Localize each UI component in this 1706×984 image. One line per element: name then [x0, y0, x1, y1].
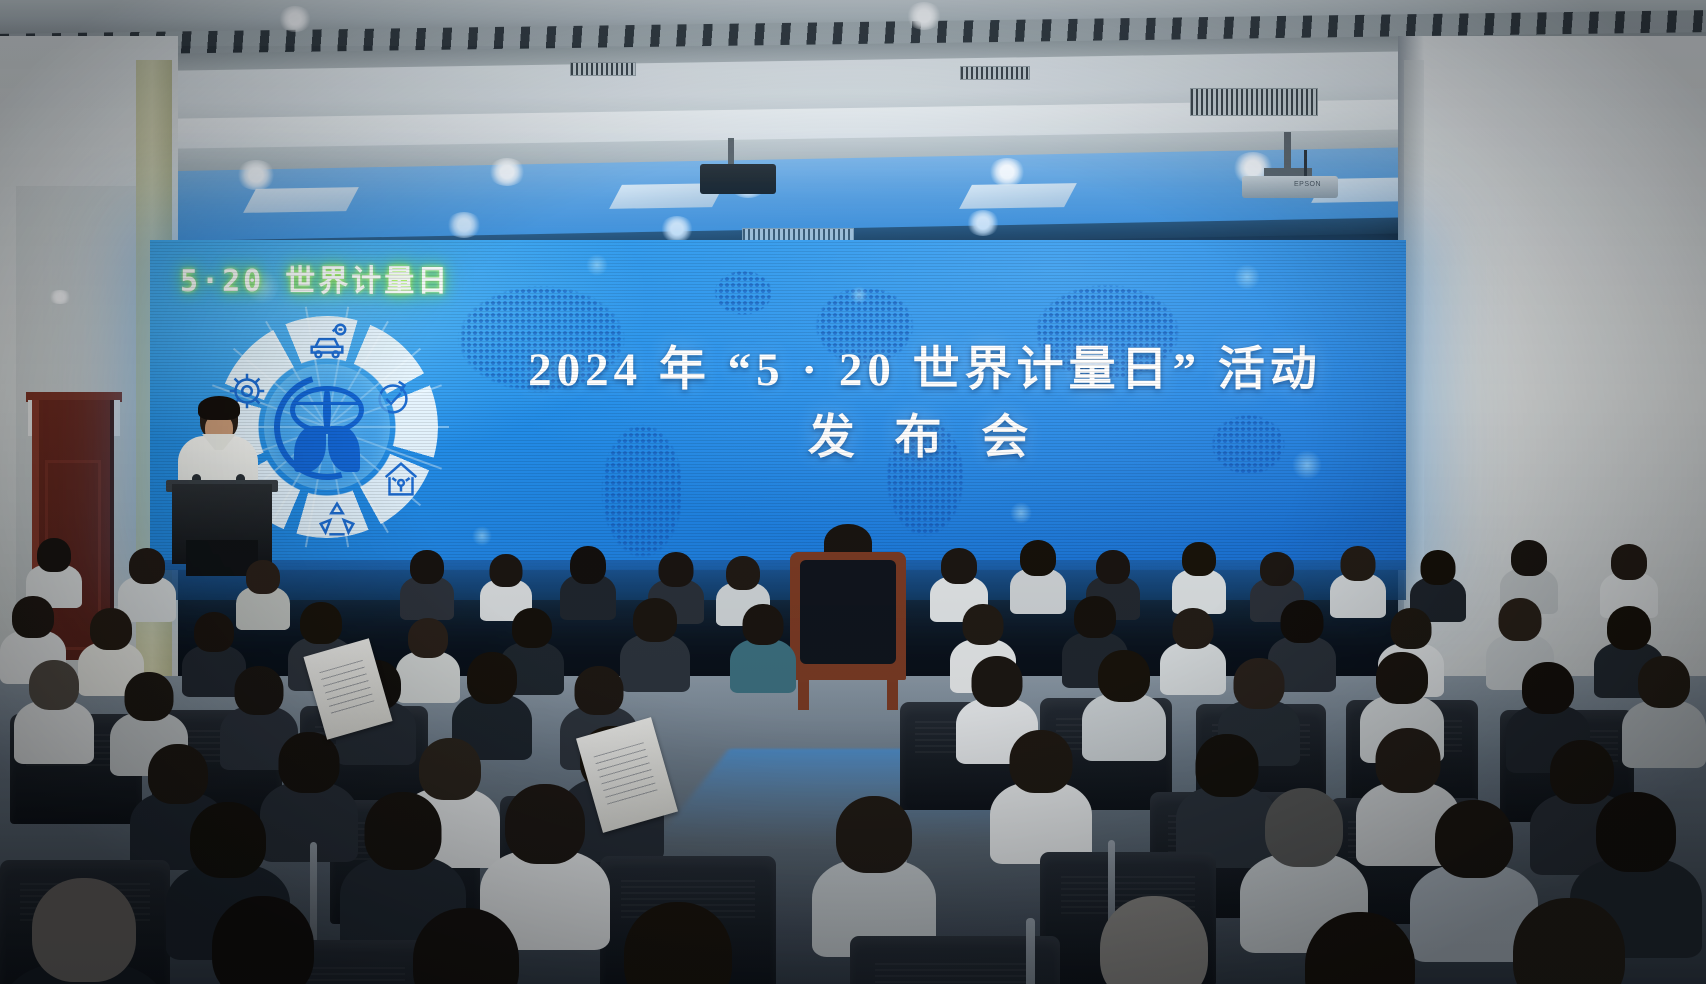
audience-member — [1600, 544, 1658, 614]
bokeh-light — [850, 286, 868, 304]
audience-member — [14, 660, 94, 760]
audience-member — [560, 546, 616, 616]
person-head — [300, 602, 342, 644]
person-head — [1638, 656, 1690, 708]
person-head — [410, 550, 444, 584]
person-head — [1096, 550, 1130, 584]
person-torso — [1082, 693, 1166, 761]
person-head — [1607, 606, 1651, 650]
person-head — [1341, 546, 1376, 581]
person-head — [659, 552, 694, 587]
audience-member — [1160, 608, 1226, 692]
person-torso — [1160, 642, 1226, 695]
ceiling-spot-light — [660, 216, 694, 242]
person-head — [1435, 800, 1513, 878]
person-head — [836, 796, 912, 873]
person-head — [963, 604, 1004, 645]
smart-home-icon — [378, 456, 424, 502]
ceiling-spot-light — [48, 290, 72, 304]
person-head — [467, 652, 517, 704]
led-title-line-1: 2024 年 “5 · 20 世界计量日” 活动 — [470, 336, 1380, 404]
audience-member — [380, 908, 552, 984]
person-head — [148, 744, 208, 804]
ceiling-panel-light — [243, 187, 359, 213]
led-slogan-text: 5·20 世界计量日 — [180, 256, 600, 300]
person-head — [125, 672, 174, 721]
projector-brand-label: EPSON — [1294, 181, 1321, 188]
air-vent-icon — [1190, 88, 1318, 116]
person-head — [1376, 652, 1428, 704]
emblem-globe-equator — [292, 402, 362, 405]
ceiling-panel-light — [959, 183, 1077, 209]
audience-member — [1172, 542, 1226, 610]
person-head — [1376, 728, 1441, 793]
audience-member — [1476, 898, 1662, 984]
person-head — [1499, 598, 1542, 641]
person-head — [413, 908, 519, 984]
person-head — [1305, 912, 1415, 984]
air-vent-icon — [960, 66, 1030, 80]
person-head — [1098, 650, 1150, 702]
person-head — [1421, 550, 1456, 585]
air-vent-icon — [570, 62, 636, 76]
audience-member — [1330, 546, 1386, 614]
person-head — [1281, 600, 1324, 643]
person-head — [32, 878, 136, 982]
person-head — [1173, 608, 1214, 649]
projector-mount-arm — [728, 138, 734, 164]
audience-seating-area — [0, 500, 1706, 984]
audience-member — [990, 730, 1092, 858]
person-head — [490, 554, 523, 587]
person-head — [512, 608, 552, 648]
audience-member — [730, 604, 796, 690]
ceiling-spot-light — [278, 6, 312, 32]
projector-body — [700, 164, 776, 194]
projector-body — [1242, 176, 1338, 198]
audience-member — [180, 896, 346, 984]
audience-member — [26, 538, 82, 604]
person-head — [235, 666, 284, 715]
person-head — [1020, 540, 1056, 576]
audience-member — [400, 550, 454, 616]
electric-car-icon — [304, 318, 350, 364]
person-head — [408, 618, 448, 658]
audience-member — [590, 902, 766, 984]
person-head — [365, 792, 442, 870]
person-head — [1234, 658, 1285, 709]
led-title-line-2: 发 布 会 — [470, 404, 1380, 472]
person-head — [1596, 792, 1676, 872]
person-head — [743, 604, 784, 645]
person-torso — [1622, 700, 1706, 768]
bokeh-light — [1234, 264, 1260, 290]
person-head — [575, 666, 624, 715]
ceiling-cable — [1304, 150, 1307, 176]
person-head — [570, 546, 606, 584]
chair-armrest — [1026, 918, 1035, 984]
audience-member — [1066, 896, 1242, 984]
person-head — [279, 732, 340, 793]
ceiling-spot-light — [446, 212, 482, 238]
audience-member — [0, 878, 168, 984]
person-head — [1611, 544, 1647, 580]
ceiling-spot-light — [906, 2, 942, 30]
person-head — [726, 556, 760, 590]
person-head — [29, 660, 79, 710]
audience-member — [1622, 656, 1706, 764]
person-head — [941, 548, 977, 584]
person-head — [972, 656, 1023, 707]
person-head — [194, 612, 234, 652]
conference-hall-photo: EPSON — [0, 0, 1706, 984]
projector-mount-arm — [1284, 132, 1291, 172]
audience-member — [1082, 650, 1166, 756]
person-head — [12, 596, 54, 638]
ceiling-spot-light — [488, 158, 526, 186]
person-head — [633, 598, 677, 642]
person-head — [1100, 896, 1208, 984]
person-head — [212, 896, 314, 984]
ceiling-spot-light — [236, 160, 276, 190]
emblem-core-disc — [264, 364, 390, 490]
person-torso — [730, 639, 796, 693]
person-head — [1513, 898, 1625, 984]
audience-member — [1270, 912, 1450, 984]
person-head — [246, 560, 280, 594]
ceiling-spot-light — [966, 210, 1000, 236]
person-head — [1522, 662, 1574, 714]
person-head — [419, 738, 481, 800]
person-head — [1182, 542, 1216, 576]
person-head — [129, 548, 165, 584]
person-head — [1010, 730, 1073, 793]
person-head — [37, 538, 71, 572]
person-head — [505, 784, 585, 864]
led-main-title: 2024 年 “5 · 20 世界计量日” 活动 发 布 会 — [470, 336, 1380, 472]
epson-projector: EPSON — [1242, 168, 1338, 208]
ceiling-spot-light — [988, 158, 1026, 186]
person-head — [1074, 596, 1116, 638]
person-head — [1260, 552, 1294, 586]
audience-member — [1010, 540, 1066, 610]
speaker-hair — [198, 396, 240, 420]
person-head — [190, 802, 266, 878]
secondary-projector — [700, 160, 776, 198]
person-head — [1511, 540, 1547, 576]
person-head — [624, 902, 732, 984]
person-head — [1391, 608, 1432, 649]
person-head — [1265, 788, 1343, 867]
audience-member — [812, 796, 936, 950]
person-head — [90, 608, 132, 650]
